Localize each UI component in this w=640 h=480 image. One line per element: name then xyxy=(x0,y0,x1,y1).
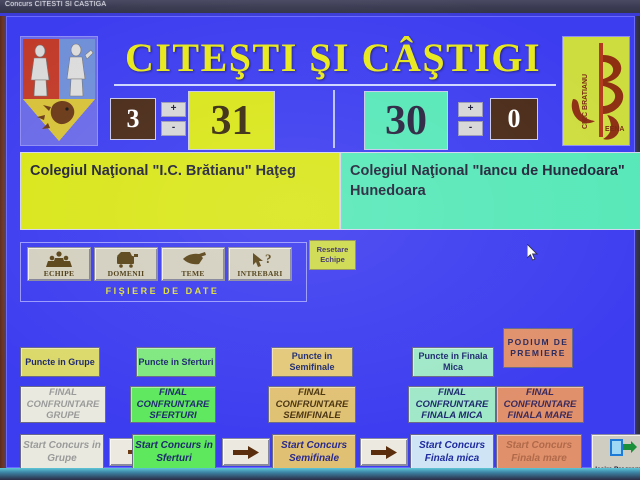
team-left-name: Colegiul Naţional "I.C. Brătianu" Haţeg xyxy=(20,152,340,230)
points-small-final-button[interactable]: Puncte in Finala Mica xyxy=(412,347,494,377)
data-files-caption: FIŞIERE DE DATE xyxy=(20,286,305,296)
team-right-name: Colegiul Naţional "Iancu de Hunedoara" H… xyxy=(340,152,640,230)
start-semifinals-button[interactable]: Start Concurs Semifinale xyxy=(272,434,356,470)
final-quarters-button[interactable]: FINAL CONFRUNTARE SFERTURI xyxy=(130,386,216,423)
reset-teams-button[interactable]: Resetare Echipe xyxy=(309,240,356,270)
start-quarters-button[interactable]: Start Concurs in Sferturi xyxy=(132,434,216,470)
echipe-label: ECHIPE xyxy=(28,269,90,278)
arrow-2-button[interactable] xyxy=(222,438,270,466)
start-grand-final-button[interactable]: Start Concurs Finala mare xyxy=(496,434,582,470)
monitor-photo: Concurs CITESTI SI CASTIGA xyxy=(0,0,640,480)
domenii-label: DOMENII xyxy=(95,269,157,278)
arrow-right-icon xyxy=(371,446,397,459)
folder-cart-icon xyxy=(95,250,157,268)
points-groups-button[interactable]: Puncte in Grupe xyxy=(20,347,100,377)
arrow-3-button[interactable] xyxy=(360,438,408,466)
arrow-right-icon xyxy=(233,446,259,459)
svg-text:EENA: EENA xyxy=(605,126,624,133)
intrebari-button[interactable]: ? INTREBARI xyxy=(228,247,292,281)
team-icon xyxy=(28,250,90,268)
intrebari-label: INTREBARI xyxy=(229,269,291,278)
domenii-button[interactable]: DOMENII xyxy=(94,247,158,281)
svg-text:?: ? xyxy=(265,251,272,266)
left-plus-button[interactable]: + xyxy=(161,102,186,117)
school-logo: CNIC BRATIANU EENA xyxy=(562,36,630,146)
svg-text:CNIC BRATIANU: CNIC BRATIANU xyxy=(582,74,589,129)
echipe-button[interactable]: ECHIPE xyxy=(27,247,91,281)
right-plus-button[interactable]: + xyxy=(458,102,483,117)
final-grand-final-button[interactable]: FINAL CONFRUNTARE FINALA MARE xyxy=(496,386,584,423)
window-titlebar: Concurs CITESTI SI CASTIGA xyxy=(0,0,640,14)
final-groups-button: FINAL CONFRUNTARE GRUPE xyxy=(20,386,106,423)
monitor-bezel-right xyxy=(635,16,640,480)
question-cursor-icon: ? xyxy=(229,250,291,268)
right-minus-button[interactable]: - xyxy=(458,121,483,136)
score-divider xyxy=(333,90,335,148)
left-minus-button[interactable]: - xyxy=(161,121,186,136)
judet-coat-of-arms xyxy=(20,36,98,146)
start-groups-button: Start Concurs in Grupe xyxy=(20,434,104,470)
final-semifinals-button[interactable]: FINAL CONFRUNTARE SEMIFINALE xyxy=(268,386,356,423)
teme-button[interactable]: TEME xyxy=(161,247,225,281)
right-points-display: 30 xyxy=(364,91,448,150)
title-divider xyxy=(114,84,556,86)
left-points-display: 31 xyxy=(188,91,275,150)
window-title: Concurs CITESTI SI CASTIGA xyxy=(5,1,106,8)
hand-pointer-icon xyxy=(162,250,224,268)
points-semifinals-button[interactable]: Puncte in Semifinale xyxy=(271,347,353,377)
right-rounds-display: 0 xyxy=(490,98,538,140)
left-rounds-display: 3 xyxy=(110,98,156,140)
final-small-final-button[interactable]: FINAL CONFRUNTARE FINALA MICA xyxy=(408,386,496,423)
points-quarters-button[interactable]: Puncte in Sferturi xyxy=(136,347,216,377)
monitor-bezel-bottom xyxy=(0,468,640,480)
page-title: CITEŞTI ŞI CÂŞTIGI xyxy=(118,36,548,80)
exit-door-icon xyxy=(592,435,640,461)
teme-label: TEME xyxy=(162,269,224,278)
app-form: CNIC BRATIANU EENA CITEŞTI ŞI CÂŞTIGI 3 … xyxy=(6,16,635,468)
mouse-cursor xyxy=(527,244,539,267)
start-small-final-button[interactable]: Start Concurs Finala mica xyxy=(410,434,494,470)
podium-button[interactable]: PODIUM DE PREMIERE xyxy=(503,328,573,368)
